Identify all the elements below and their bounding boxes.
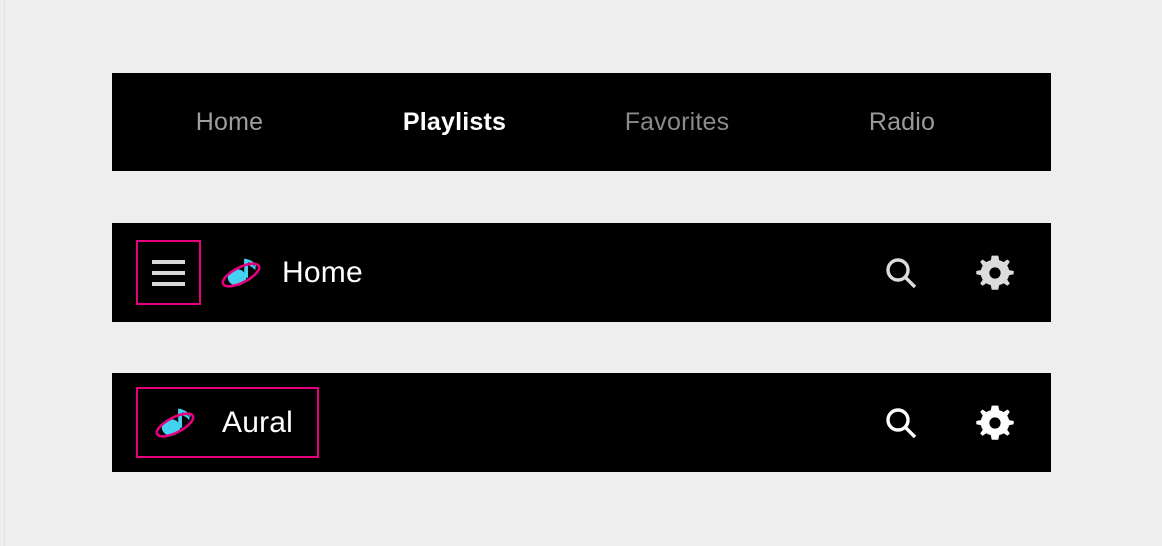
hamburger-line-3 [152,282,185,286]
aural-music-note-logo [218,250,264,296]
brand-logo-button[interactable]: Aural [136,387,319,458]
gear-icon[interactable] [973,251,1017,295]
app-bar: Home [112,223,1051,322]
gear-icon[interactable] [973,401,1017,445]
brand-name: Aural [222,406,293,440]
tab-radio[interactable]: Radio [792,110,1012,135]
hamburger-line-2 [152,271,185,275]
page-left-edge-line [4,0,5,546]
hamburger-menu-icon[interactable] [136,240,201,305]
hamburger-line-1 [152,260,185,264]
tab-favorites[interactable]: Favorites [562,110,792,135]
brand-bar: Aural [112,373,1051,472]
search-icon[interactable] [879,251,923,295]
tab-home[interactable]: Home [112,110,347,135]
tab-playlists[interactable]: Playlists [347,110,562,135]
page-title: Home [282,256,363,290]
search-icon[interactable] [879,401,923,445]
tab-bar: Home Playlists Favorites Radio [112,73,1051,171]
aural-music-note-logo [152,400,198,446]
